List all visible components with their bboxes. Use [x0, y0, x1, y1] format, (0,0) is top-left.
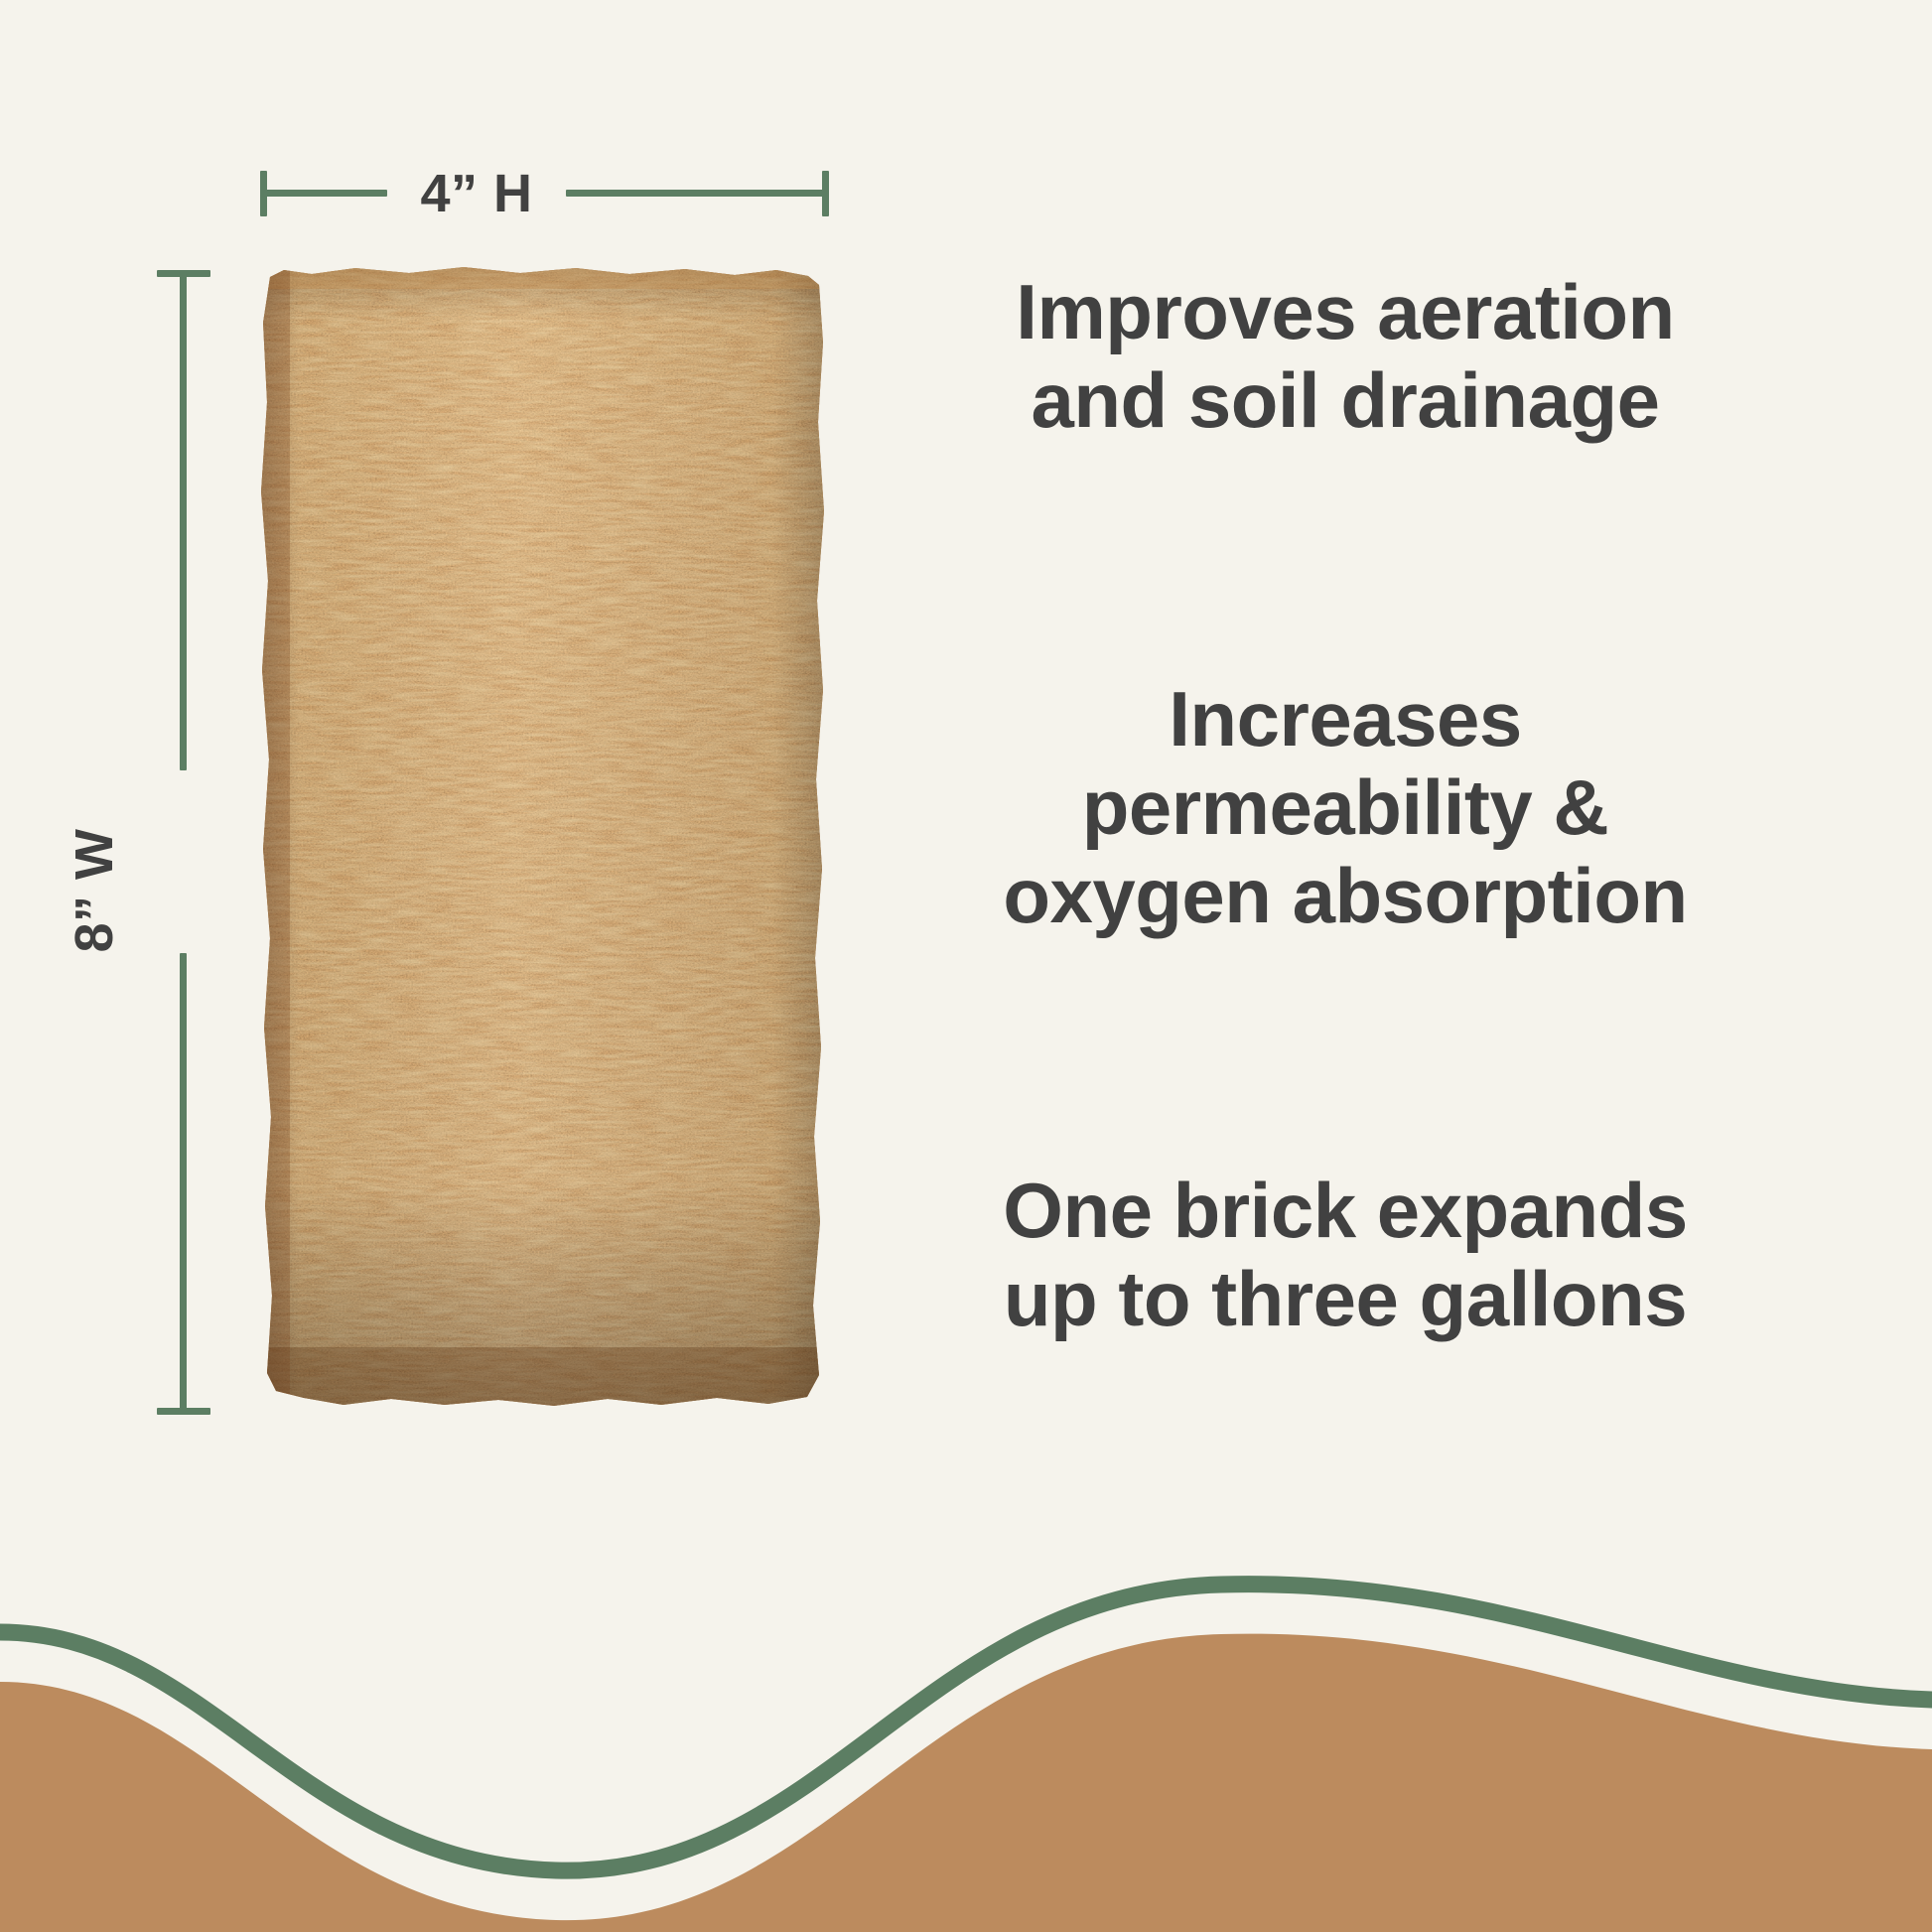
height-dim-line-left — [264, 190, 387, 197]
feature-line: One brick expands — [968, 1167, 1723, 1255]
coco-coir-brick-image — [260, 263, 829, 1412]
feature-line: Increases — [968, 675, 1723, 763]
width-dim-line-bottom — [180, 953, 187, 1412]
soil-wave-divider — [0, 1515, 1932, 1932]
height-dimension-label: 4” H — [387, 163, 566, 224]
feature-expansion: One brick expands up to three gallons — [968, 1167, 1723, 1343]
feature-line: oxygen absorption — [968, 852, 1723, 940]
width-dimension-label: 8” W — [64, 771, 125, 1010]
height-dim-cap-right — [822, 171, 829, 216]
feature-aeration: Improves aeration and soil drainage — [968, 268, 1723, 445]
feature-line: Improves aeration — [968, 268, 1723, 356]
height-dim-line-right — [566, 190, 826, 197]
feature-permeability: Increases permeability & oxygen absorpti… — [968, 675, 1723, 940]
feature-line: permeability & — [968, 763, 1723, 852]
infographic-canvas: 4” H 8” W — [0, 0, 1932, 1932]
feature-line: and soil drainage — [968, 356, 1723, 445]
width-dim-cap-bottom — [157, 1408, 210, 1415]
width-dim-line-top — [180, 274, 187, 770]
feature-line: up to three gallons — [968, 1255, 1723, 1343]
